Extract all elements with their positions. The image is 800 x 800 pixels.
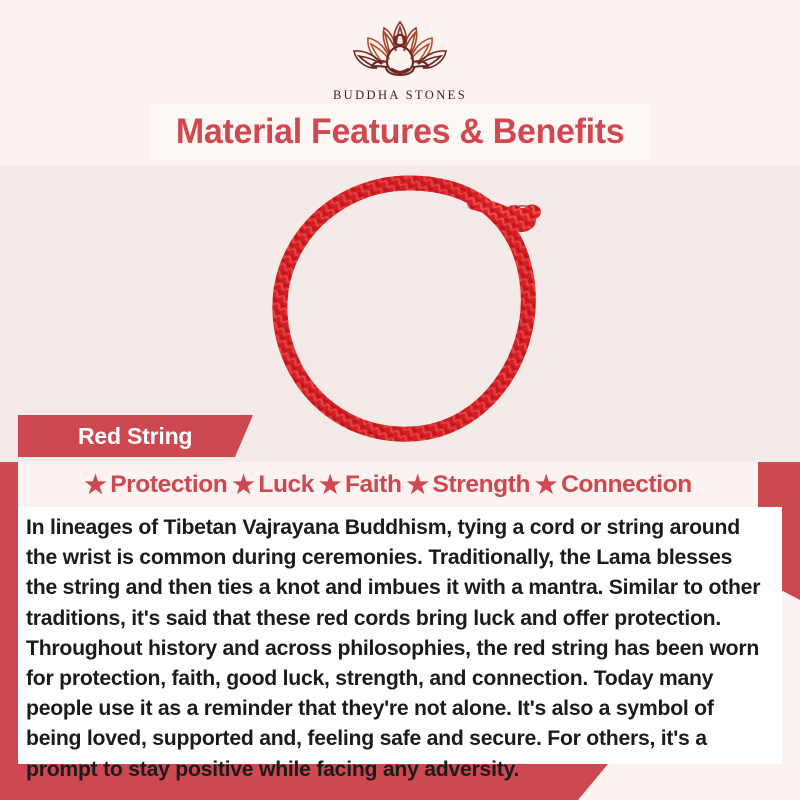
star-icon: ★ bbox=[407, 473, 429, 498]
benefit-label: Protection bbox=[110, 471, 227, 499]
page-title-text: Material Features & Benefits bbox=[176, 112, 624, 152]
brand-logo: BUDDHA STONES bbox=[0, 16, 800, 103]
star-icon: ★ bbox=[84, 473, 106, 498]
benefits-list: ★ Protection ★ Luck ★ Faith ★ Strength ★… bbox=[18, 463, 758, 507]
benefit-label: Strength bbox=[433, 471, 531, 499]
infographic-page: BUDDHA STONES Material Features & Benefi… bbox=[0, 0, 800, 800]
star-icon: ★ bbox=[319, 473, 341, 498]
benefit-item-protection: ★ Protection bbox=[84, 471, 227, 499]
benefit-label: Connection bbox=[561, 471, 692, 499]
benefit-item-strength: ★ Strength bbox=[407, 471, 531, 499]
red-braided-string-bracelet-icon bbox=[236, 172, 584, 462]
benefit-label: Luck bbox=[258, 471, 314, 499]
benefit-item-faith: ★ Faith bbox=[319, 471, 402, 499]
product-label-text: Red String bbox=[78, 423, 192, 450]
description-text: In lineages of Tibetan Vajrayana Buddhis… bbox=[26, 513, 766, 785]
star-icon: ★ bbox=[232, 473, 254, 498]
brand-name: BUDDHA STONES bbox=[333, 88, 467, 103]
star-icon: ★ bbox=[535, 473, 557, 498]
benefit-label: Faith bbox=[345, 471, 402, 499]
page-title: Material Features & Benefits bbox=[150, 104, 650, 160]
product-label-banner: Red String bbox=[18, 415, 253, 457]
benefit-item-connection: ★ Connection bbox=[535, 471, 692, 499]
lotus-meditation-icon bbox=[332, 16, 468, 86]
description-panel: In lineages of Tibetan Vajrayana Buddhis… bbox=[18, 507, 782, 764]
benefit-item-luck: ★ Luck bbox=[232, 471, 314, 499]
